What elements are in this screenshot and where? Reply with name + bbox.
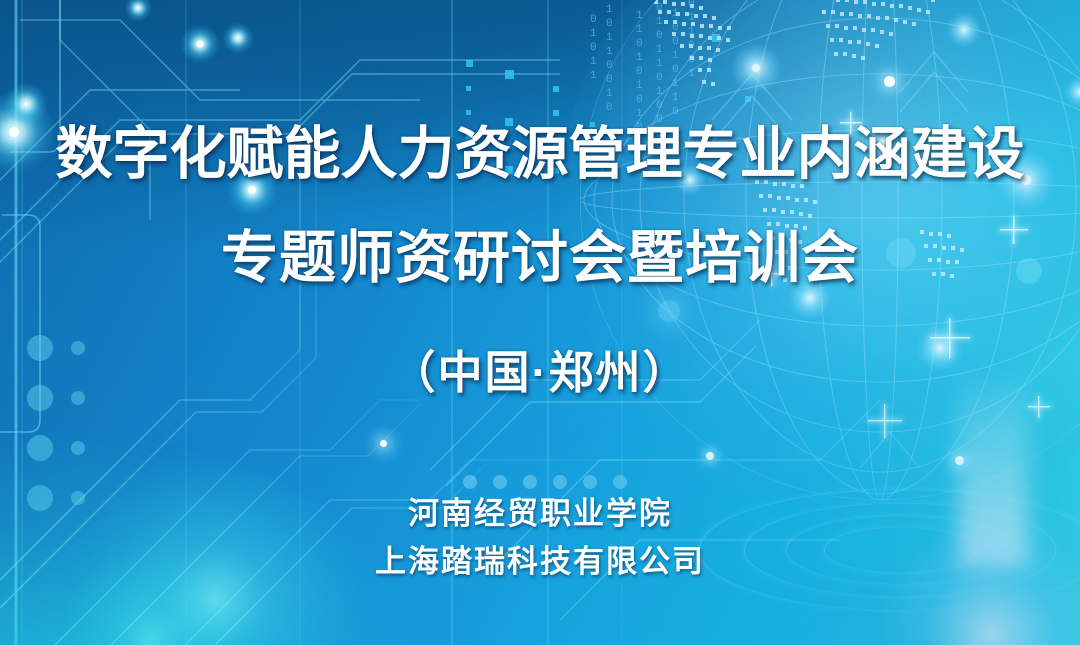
banner-text-layer: 数字化赋能人力资源管理专业内涵建设 专题师资研讨会暨培训会 （中国·郑州） 河南… <box>0 0 1080 645</box>
organizer-line-1: 河南经贸职业学院 <box>0 494 1080 534</box>
banner-title-line-2: 专题师资研讨会暨培训会 <box>0 226 1080 290</box>
organizer-line-2: 上海踏瑞科技有限公司 <box>0 542 1080 582</box>
banner-title-line-1: 数字化赋能人力资源管理专业内涵建设 <box>0 122 1080 186</box>
conference-banner: 010 110 100 1 100 101 10 011 001 101 100… <box>0 0 1080 645</box>
banner-location: （中国·郑州） <box>0 346 1080 400</box>
